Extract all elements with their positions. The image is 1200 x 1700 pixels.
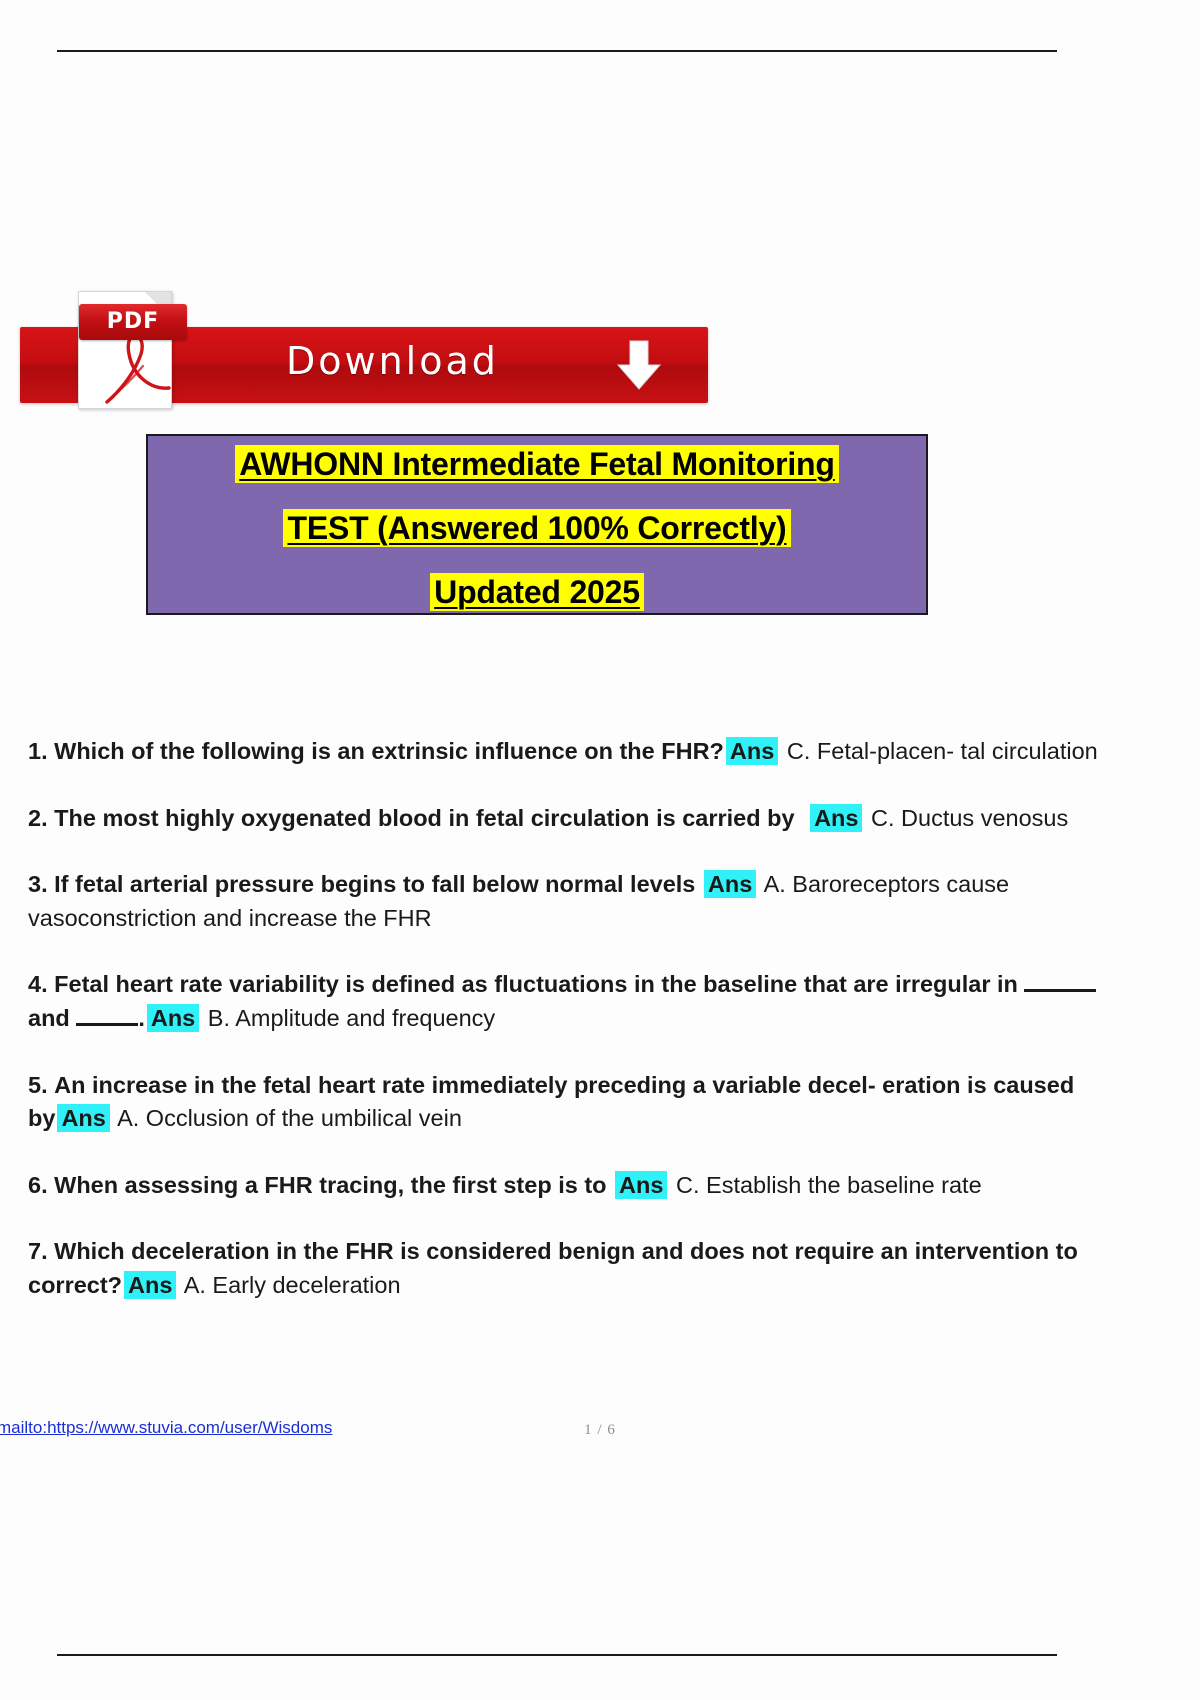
question-text-part-3: . (138, 1005, 145, 1031)
qa-item-7: 7. Which deceleration in the FHR is cons… (28, 1235, 1113, 1302)
answer-text: A. Occlusion of the umbilical vein (117, 1105, 462, 1131)
question-text-part-2: and (28, 1005, 70, 1031)
document-page: Download PDF AWHONN Intermediate Fetal M… (0, 0, 1200, 1700)
acrobat-swirl-icon (95, 328, 175, 408)
title-line-2-text: TEST (Answered 100% Correctly) (283, 509, 790, 547)
pdf-badge-label: PDF (79, 304, 187, 340)
page-footer: mailto:https://www.stuvia.com/user/Wisdo… (0, 1418, 1200, 1448)
question-text: If fetal arterial pressure begins to fal… (54, 871, 695, 897)
question-number: 2. (28, 805, 48, 831)
page-bottom-rule (57, 1654, 1057, 1656)
title-line-2: TEST (Answered 100% Correctly) (148, 512, 926, 546)
question-number: 6. (28, 1172, 48, 1198)
question-answer-list: 1. Which of the following is an extrinsi… (28, 735, 1113, 1336)
document-title-box: AWHONN Intermediate Fetal Monitoring TES… (146, 434, 928, 615)
pdf-file-icon: PDF (78, 291, 172, 409)
answer-text: C. Ductus venosus (871, 805, 1068, 831)
answer-marker: Ans (810, 804, 862, 832)
qa-item-4: 4. Fetal heart rate variability is defin… (28, 968, 1113, 1035)
answer-marker: Ans (615, 1171, 667, 1199)
answer-text: C. Establish the baseline rate (676, 1172, 982, 1198)
answer-marker: Ans (726, 737, 778, 765)
question-text: When assessing a FHR tracing, the first … (54, 1172, 606, 1198)
question-number: 3. (28, 871, 48, 897)
qa-item-3: 3. If fetal arterial pressure begins to … (28, 868, 1113, 935)
question-number: 4. (28, 971, 48, 997)
title-line-3: Updated 2025 (148, 576, 926, 610)
qa-item-1: 1. Which of the following is an extrinsi… (28, 735, 1113, 769)
question-number: 1. (28, 738, 48, 764)
qa-item-2: 2. The most highly oxygenated blood in f… (28, 802, 1113, 836)
title-line-3-text: Updated 2025 (430, 573, 644, 611)
answer-marker: Ans (57, 1104, 109, 1132)
pdf-badge: PDF (79, 304, 187, 340)
answer-marker: Ans (704, 870, 756, 898)
download-banner[interactable]: Download PDF (18, 277, 708, 407)
title-line-1: AWHONN Intermediate Fetal Monitoring (148, 448, 926, 482)
answer-text: C. Fetal-placen- tal circulation (787, 738, 1098, 764)
qa-item-6: 6. When assessing a FHR tracing, the fir… (28, 1169, 1113, 1203)
page-number-indicator: 1 / 6 (0, 1422, 1200, 1439)
title-line-1-text: AWHONN Intermediate Fetal Monitoring (235, 445, 839, 483)
question-number: 7. (28, 1238, 48, 1264)
answer-text: A. Early deceleration (184, 1272, 401, 1298)
answer-marker: Ans (124, 1271, 176, 1299)
fill-in-blank-1 (1024, 989, 1096, 992)
qa-item-5: 5. An increase in the fetal heart rate i… (28, 1069, 1113, 1136)
question-text-part-1: Fetal heart rate variability is defined … (54, 971, 1018, 997)
answer-text: B. Amplitude and frequency (208, 1005, 495, 1031)
page-top-rule (57, 50, 1057, 52)
question-text: The most highly oxygenated blood in feta… (54, 805, 794, 831)
question-number: 5. (28, 1072, 48, 1098)
download-arrow-icon (616, 339, 662, 391)
download-banner-label: Download (286, 339, 499, 383)
question-text: Which of the following is an extrinsic i… (54, 738, 724, 764)
fill-in-blank-2 (76, 1023, 138, 1026)
answer-marker: Ans (147, 1004, 199, 1032)
